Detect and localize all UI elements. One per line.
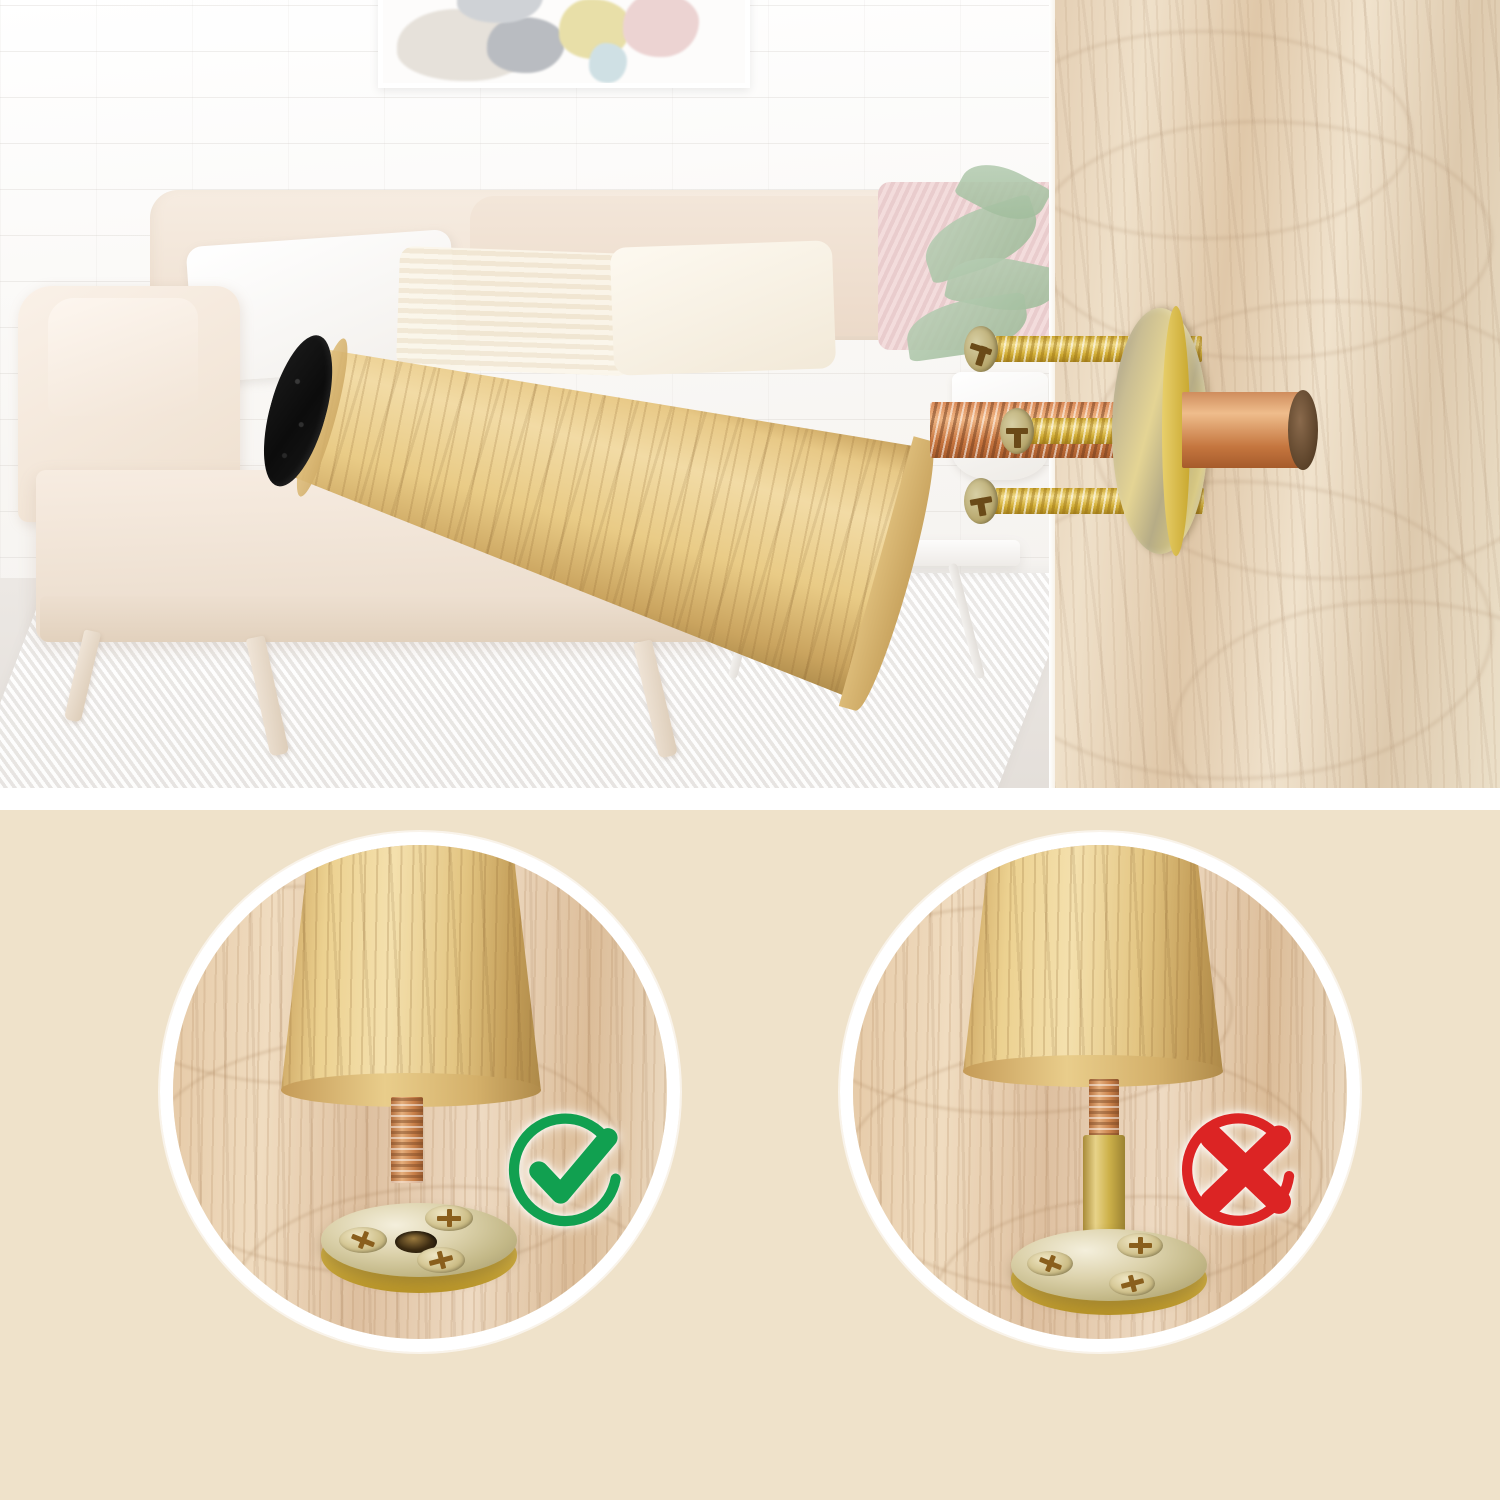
mounting-hardware [930,300,1350,560]
screw-cross-slot [1006,428,1028,434]
check-icon [503,1107,631,1235]
leg-body [281,832,541,1091]
threaded-hanger-bolt [391,1097,423,1183]
bolt-end-face [1288,390,1318,470]
correct-installation [160,832,680,1352]
panel-separator [0,788,1500,810]
incorrect-installation [840,832,1360,1352]
brass-spacer-sleeve [1083,1135,1125,1243]
leg-body [963,832,1223,1073]
threaded-hanger-bolt [1089,1079,1119,1141]
abstract-wall-art [378,0,750,88]
bolt-shaft [1182,392,1300,468]
sofa-arm-cushion [48,298,198,416]
top-panel [0,0,1500,788]
installation-comparison: Note: Incorrect installation may cause f… [0,810,1500,1500]
cross-icon [1179,1107,1307,1235]
screw-cross-slot [1129,1243,1152,1248]
screw-cross-slot [437,1216,461,1221]
product-image: Note: Incorrect installation may cause f… [0,0,1500,1500]
